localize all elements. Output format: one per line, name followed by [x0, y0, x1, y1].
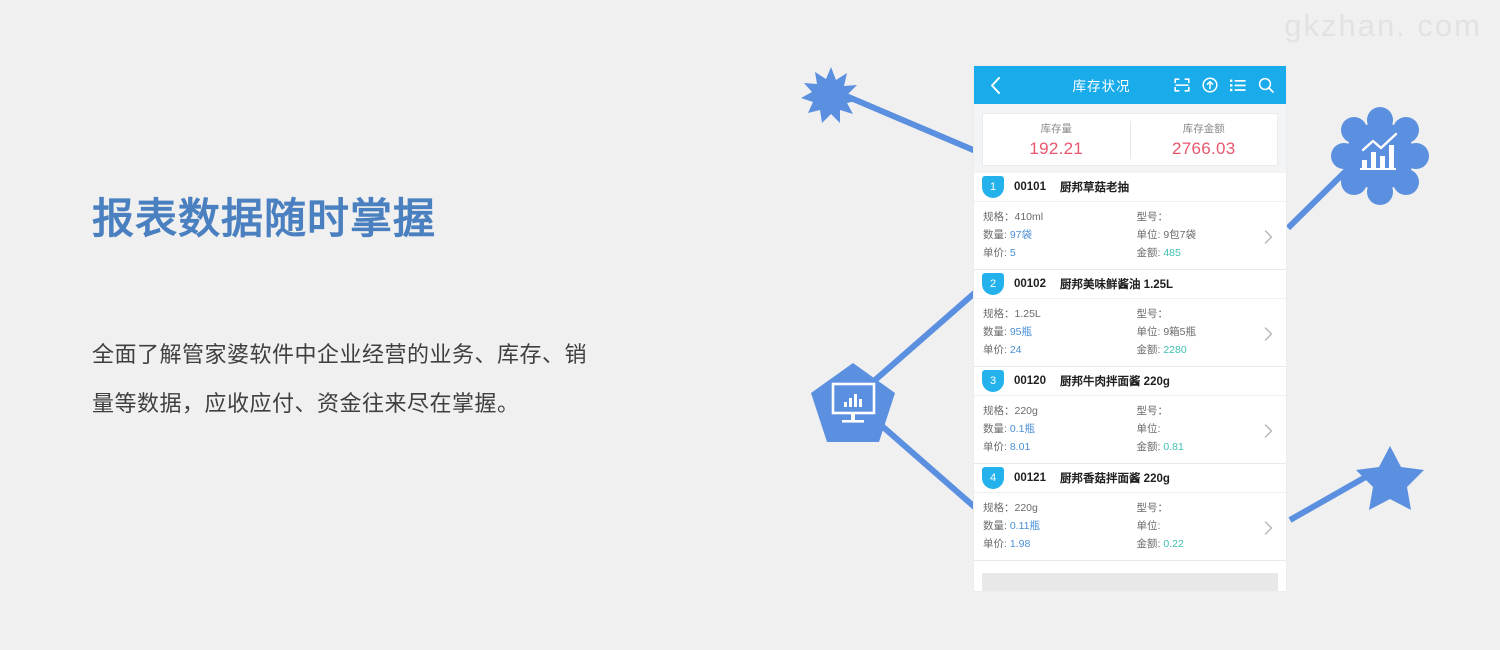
row-code: 00101 [1014, 181, 1046, 193]
label-unit: 单位: [1137, 326, 1161, 338]
label-spec: 规格： [983, 405, 1015, 417]
connector-line-right-top [1288, 165, 1352, 228]
row-price: 单价: 5 [983, 244, 1133, 262]
label-model: 型号： [1137, 502, 1169, 514]
row-model: 型号： [1137, 305, 1287, 323]
inventory-list: 1 00101 厨邦草菇老抽 规格：410ml 数量: 97袋 单价: 5 型号… [974, 173, 1286, 561]
label-price: 单价: [983, 441, 1007, 453]
label-amount: 金额: [1137, 538, 1161, 550]
table-row[interactable]: 3 00120 厨邦牛肉拌面酱 220g 规格：220g 数量: 0.1瓶 单价… [974, 367, 1286, 464]
label-qty: 数量: [983, 423, 1007, 435]
row-detail-left: 规格：410ml 数量: 97袋 单价: 5 [974, 208, 1133, 262]
chart-cloud-badge [1331, 107, 1429, 205]
row-qty: 数量: 95瓶 [983, 323, 1133, 341]
label-model: 型号： [1137, 308, 1169, 320]
chevron-right-icon[interactable] [1264, 230, 1276, 242]
connector-line-middle [866, 290, 978, 388]
value-price: 5 [1010, 247, 1016, 259]
page-title: 报表数据随时掌握 [92, 194, 436, 244]
row-header: 1 00101 厨邦草菇老抽 [974, 173, 1286, 202]
connector-line-lower [866, 412, 978, 510]
row-price: 单价: 1.98 [983, 535, 1133, 553]
monitor-pentagon-badge [811, 363, 895, 442]
label-price: 单价: [983, 344, 1007, 356]
promo-banner: gkzhan. com 报表数据随时掌握 全面了解管家婆软件中企业经营的业务、库… [0, 0, 1500, 650]
header-icon-group [1173, 77, 1274, 94]
label-model: 型号： [1137, 405, 1169, 417]
bar-chart-trend-icon [1360, 134, 1396, 170]
row-model: 型号： [1137, 402, 1287, 420]
table-row[interactable]: 4 00121 厨邦香菇拌面酱 220g 规格：220g 数量: 0.11瓶 单… [974, 464, 1286, 561]
value-price: 8.01 [1010, 441, 1030, 453]
star-icon [1356, 446, 1424, 510]
row-spec: 规格：410ml [983, 208, 1133, 226]
row-model: 型号： [1137, 499, 1287, 517]
row-code: 00102 [1014, 278, 1046, 290]
summary-stock-amount: 库存金额 2766.03 [1130, 121, 1278, 159]
upload-circle-icon[interactable] [1201, 77, 1218, 94]
row-header: 4 00121 厨邦香菇拌面酱 220g [974, 464, 1286, 493]
label-spec: 规格： [983, 502, 1015, 514]
row-code: 00121 [1014, 472, 1046, 484]
row-product-name: 厨邦香菇拌面酱 220g [1060, 470, 1170, 486]
row-qty: 数量: 97袋 [983, 226, 1133, 244]
chevron-right-icon[interactable] [1264, 424, 1276, 436]
list-icon[interactable] [1229, 77, 1246, 94]
row-product-name: 厨邦草菇老抽 [1060, 179, 1129, 195]
label-model: 型号： [1137, 211, 1169, 223]
value-unit: 9箱5瓶 [1163, 326, 1196, 338]
label-unit: 单位: [1137, 520, 1161, 532]
label-amount: 金额: [1137, 441, 1161, 453]
value-qty: 0.1瓶 [1010, 423, 1035, 435]
label-unit: 单位: [1137, 423, 1161, 435]
phone-mockup: 库存状况 [974, 66, 1286, 591]
page-description: 全面了解管家婆软件中企业经营的业务、库存、销量等数据，应收应付、资金往来尽在掌握… [92, 330, 602, 428]
value-amount: 485 [1163, 247, 1181, 259]
connector-line-top [832, 90, 978, 152]
starburst-icon [801, 67, 860, 123]
row-price: 单价: 24 [983, 341, 1133, 359]
row-index-badge: 2 [982, 273, 1004, 295]
connector-line-right-bottom [1290, 470, 1378, 520]
label-qty: 数量: [983, 229, 1007, 241]
row-index-badge: 1 [982, 176, 1004, 198]
value-spec: 410ml [1015, 211, 1044, 223]
row-code: 00120 [1014, 375, 1046, 387]
monitor-chart-icon [833, 384, 874, 423]
row-product-name: 厨邦美味鲜酱油 1.25L [1060, 276, 1173, 292]
chevron-right-icon[interactable] [1264, 327, 1276, 339]
summary-value: 2766.03 [1131, 139, 1278, 159]
summary-section: 库存量 192.21 库存金额 2766.03 [974, 104, 1286, 173]
row-spec: 规格：220g [983, 499, 1133, 517]
star-badge [1356, 446, 1424, 510]
row-index-badge: 3 [982, 370, 1004, 392]
row-amount: 金额: 2280 [1137, 341, 1287, 359]
label-spec: 规格： [983, 308, 1015, 320]
value-spec: 220g [1015, 405, 1038, 417]
value-qty: 95瓶 [1010, 326, 1032, 338]
row-detail-right: 型号： 单位: 金额: 0.81 [1133, 402, 1287, 456]
row-detail-left: 规格：220g 数量: 0.11瓶 单价: 1.98 [974, 499, 1133, 553]
row-details: 规格：220g 数量: 0.11瓶 单价: 1.98 型号： 单位: 金额: 0… [974, 493, 1286, 560]
row-qty: 数量: 0.1瓶 [983, 420, 1133, 438]
value-spec: 1.25L [1015, 308, 1041, 320]
row-price: 单价: 8.01 [983, 438, 1133, 456]
row-details: 规格：220g 数量: 0.1瓶 单价: 8.01 型号： 单位: 金额: 0.… [974, 396, 1286, 463]
search-icon[interactable] [1257, 77, 1274, 94]
label-price: 单价: [983, 247, 1007, 259]
list-spacer [974, 561, 1286, 573]
label-unit: 单位: [1137, 229, 1161, 241]
value-amount: 0.81 [1163, 441, 1183, 453]
row-details: 规格：410ml 数量: 97袋 单价: 5 型号： 单位: 9包7袋 金额: … [974, 202, 1286, 269]
value-qty: 0.11瓶 [1010, 520, 1040, 532]
row-header: 3 00120 厨邦牛肉拌面酱 220g [974, 367, 1286, 396]
table-row[interactable]: 2 00102 厨邦美味鲜酱油 1.25L 规格：1.25L 数量: 95瓶 单… [974, 270, 1286, 367]
row-spec: 规格：220g [983, 402, 1133, 420]
summary-value: 192.21 [983, 139, 1130, 159]
row-amount: 金额: 0.22 [1137, 535, 1287, 553]
row-product-name: 厨邦牛肉拌面酱 220g [1060, 373, 1170, 389]
row-detail-right: 型号： 单位: 9包7袋 金额: 485 [1133, 208, 1287, 262]
label-price: 单价: [983, 538, 1007, 550]
row-amount: 金额: 485 [1137, 244, 1287, 262]
row-detail-left: 规格：220g 数量: 0.1瓶 单价: 8.01 [974, 402, 1133, 456]
row-details: 规格：1.25L 数量: 95瓶 单价: 24 型号： 单位: 9箱5瓶 金额:… [974, 299, 1286, 366]
table-row[interactable]: 1 00101 厨邦草菇老抽 规格：410ml 数量: 97袋 单价: 5 型号… [974, 173, 1286, 270]
phone-footer-area [982, 573, 1278, 591]
summary-label: 库存量 [983, 121, 1130, 136]
value-unit: 9包7袋 [1163, 229, 1196, 241]
summary-card: 库存量 192.21 库存金额 2766.03 [982, 113, 1278, 166]
site-watermark: gkzhan. com [1284, 8, 1482, 44]
chevron-right-icon[interactable] [1264, 521, 1276, 533]
label-amount: 金额: [1137, 247, 1161, 259]
label-spec: 规格： [983, 211, 1015, 223]
value-amount: 2280 [1163, 344, 1186, 356]
row-model: 型号： [1137, 208, 1287, 226]
row-spec: 规格：1.25L [983, 305, 1133, 323]
row-qty: 数量: 0.11瓶 [983, 517, 1133, 535]
row-amount: 金额: 0.81 [1137, 438, 1287, 456]
label-amount: 金额: [1137, 344, 1161, 356]
row-index-badge: 4 [982, 467, 1004, 489]
value-price: 24 [1010, 344, 1022, 356]
app-header: 库存状况 [974, 66, 1286, 104]
value-price: 1.98 [1010, 538, 1030, 550]
label-qty: 数量: [983, 520, 1007, 532]
value-amount: 0.22 [1163, 538, 1183, 550]
summary-stock-qty: 库存量 192.21 [983, 121, 1130, 159]
row-detail-right: 型号： 单位: 金额: 0.22 [1133, 499, 1287, 553]
app-title: 库存状况 [1030, 75, 1173, 95]
row-detail-left: 规格：1.25L 数量: 95瓶 单价: 24 [974, 305, 1133, 359]
row-header: 2 00102 厨邦美味鲜酱油 1.25L [974, 270, 1286, 299]
row-detail-right: 型号： 单位: 9箱5瓶 金额: 2280 [1133, 305, 1287, 359]
scan-icon[interactable] [1173, 77, 1190, 94]
summary-label: 库存金额 [1131, 121, 1278, 136]
label-qty: 数量: [983, 326, 1007, 338]
starburst-badge [801, 67, 860, 123]
value-qty: 97袋 [1010, 229, 1032, 241]
back-chevron-icon[interactable] [986, 76, 1004, 94]
value-spec: 220g [1015, 502, 1038, 514]
